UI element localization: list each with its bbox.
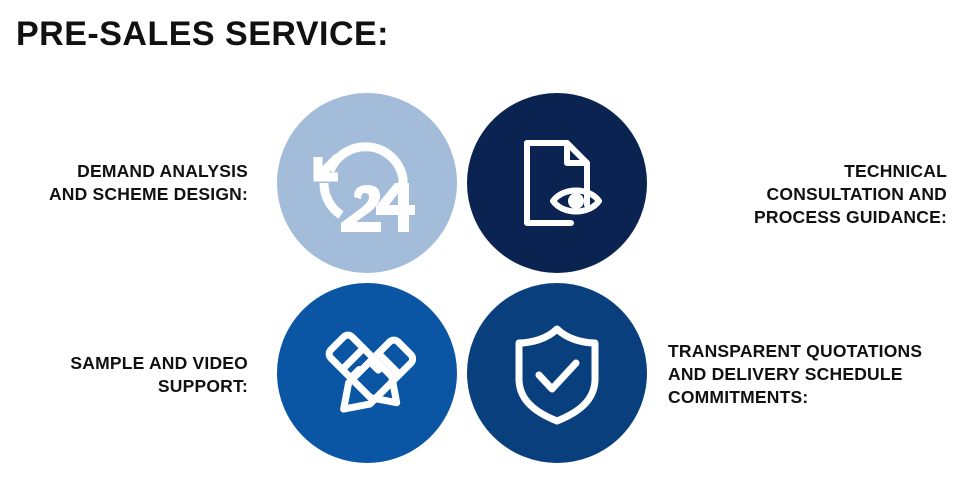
label-sample-video-support: SAMPLE AND VIDEO SUPPORT: (0, 352, 248, 398)
circle-sample-video-support[interactable] (270, 276, 464, 470)
label-technical-consultation: TECHNICAL CONSULTATION AND PROCESS GUIDA… (727, 160, 947, 229)
circle-technical-consultation[interactable] (460, 86, 654, 280)
label-transparent-quotations: TRANSPARENT QUOTATIONS AND DELIVERY SCHE… (668, 340, 960, 409)
document-eye-icon (467, 93, 647, 273)
circle-transparent-quotations[interactable] (460, 276, 654, 470)
label-demand-analysis: DEMAND ANALYSIS AND SCHEME DESIGN: (0, 160, 248, 206)
infographic-page: PRE-SALES SERVICE: (0, 0, 960, 498)
shield-check-icon (467, 283, 647, 463)
crossed-pens-icon (277, 283, 457, 463)
circle-cluster (270, 86, 690, 470)
page-title: PRE-SALES SERVICE: (16, 12, 389, 56)
24-hour-rotation-icon (277, 93, 457, 273)
circle-demand-analysis[interactable] (270, 86, 464, 280)
